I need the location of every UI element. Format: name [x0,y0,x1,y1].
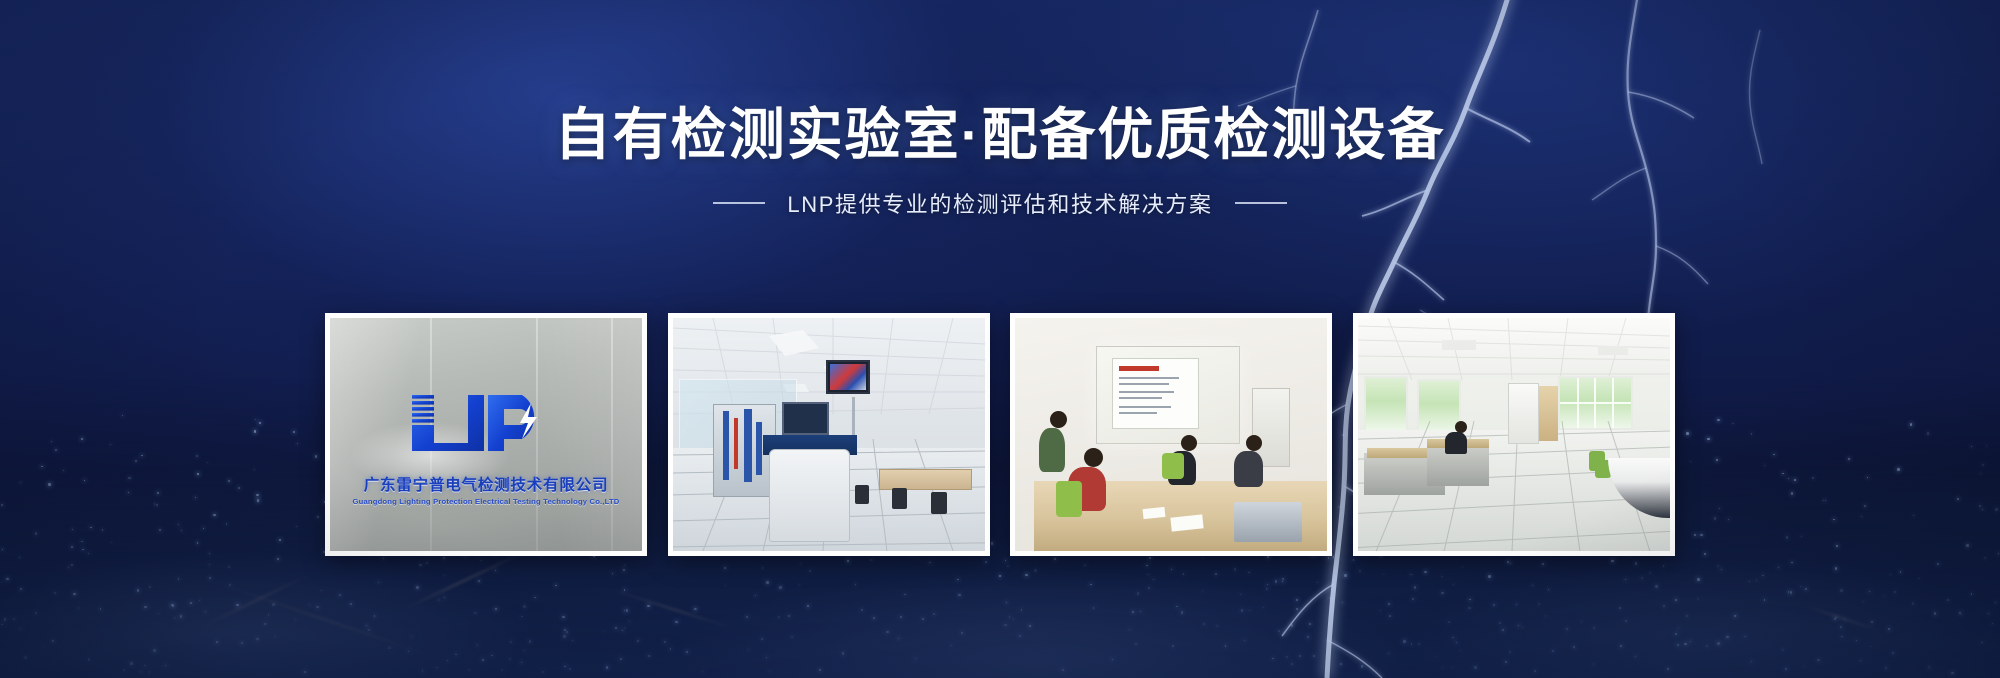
person-body [1445,432,1467,454]
photo-testing-lab [673,318,985,551]
banner-headline: 自有检测实验室·配备优质检测设备 [0,104,2000,167]
company-name-cn: 广东雷宁普电气检测技术有限公司 [364,473,609,495]
person-head [1246,435,1262,451]
photo-office-area [1358,318,1670,551]
photo-gallery: 广东雷宁普电气检测技术有限公司 Guangdong Lighting Prote… [325,313,1675,556]
gallery-item-meeting-room[interactable] [1010,313,1332,556]
person-head [1181,435,1197,451]
person-body [1234,451,1263,487]
rule-left-icon [713,202,765,204]
lnp-logo-icon [402,377,570,451]
banner-text-block: 自有检测实验室·配备优质检测设备 LNP提供专业的检测评估和技术解决方案 [0,104,2000,219]
company-name-en: Guangdong Lighting Protection Electrical… [353,497,620,506]
gallery-item-testing-lab[interactable] [668,313,990,556]
photo-meeting-room [1015,318,1327,551]
laptop-icon [1234,502,1303,542]
person-body [1039,428,1065,472]
photo-lnp-sign: 广东雷宁普电气检测技术有限公司 Guangdong Lighting Prote… [330,318,642,551]
gallery-item-office-area[interactable] [1353,313,1675,556]
hero-banner: 自有检测实验室·配备优质检测设备 LNP提供专业的检测评估和技术解决方案 [0,0,2000,678]
person-head [1050,411,1067,428]
banner-subtitle-row: LNP提供专业的检测评估和技术解决方案 [0,187,2000,219]
cabinet-icon [1508,383,1539,444]
banner-subtitle: LNP提供专业的检测评估和技术解决方案 [787,187,1212,219]
rule-right-icon [1235,202,1287,204]
shelf-icon [1539,386,1558,442]
gallery-item-lnp-sign[interactable]: 广东雷宁普电气检测技术有限公司 Guangdong Lighting Prote… [325,313,647,556]
person-head [1455,421,1467,433]
